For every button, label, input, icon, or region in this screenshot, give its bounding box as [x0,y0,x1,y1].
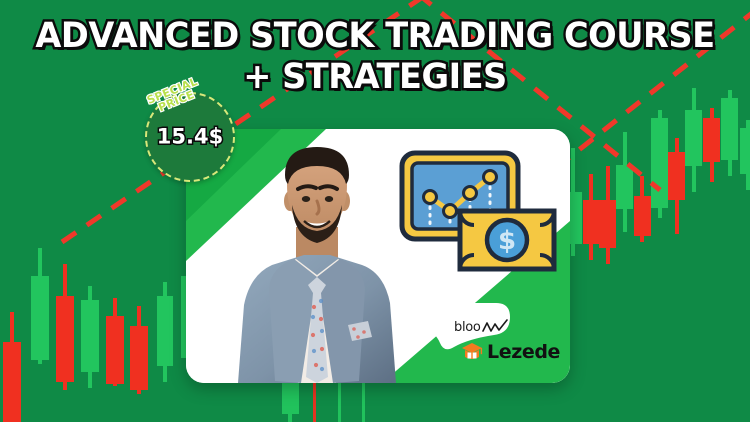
course-card: $ bloo Lezede [186,129,570,383]
chart-squiggle-icon [482,319,508,335]
brand-lezede: Lezede [461,341,560,363]
trading-illustration: $ [398,149,558,279]
brand-bloow: bloo [454,319,508,335]
brand-bloow-label: bloo [454,320,481,335]
graduation-cap-icon [461,341,483,363]
poster-canvas: ADVANCED STOCK TRADING COURSE + STRATEGI… [0,0,750,422]
brand-lezede-label: Lezede [487,341,560,363]
banknote: $ [460,211,554,269]
instructor-photo [222,139,412,383]
special-price-badge[interactable]: SPECIAL PRICE 15.4$ [145,92,235,182]
badge-price: 15.4$ [145,125,235,149]
dollar-symbol: $ [498,226,516,256]
